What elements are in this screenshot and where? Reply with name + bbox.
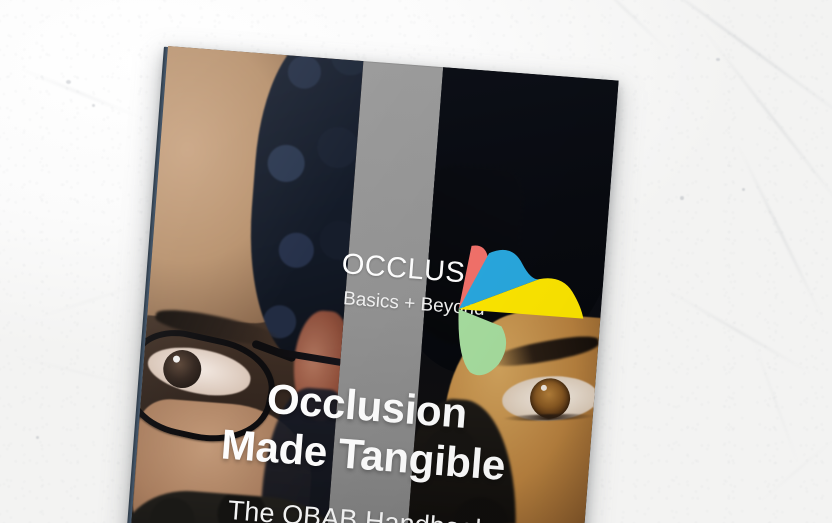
book-cover-mockup-scene: OCCLUSION Basics + Beyond Occlusion Made… xyxy=(0,0,832,523)
marble-speck xyxy=(716,58,720,61)
marble-speck xyxy=(66,80,71,84)
marble-speck xyxy=(680,196,684,200)
pinwheel-petals-icon xyxy=(435,224,607,396)
book-front-cover[interactable]: OCCLUSION Basics + Beyond Occlusion Made… xyxy=(122,46,619,523)
cover-subtitle: The OBAB Handbook xyxy=(132,488,585,523)
marble-speck xyxy=(36,436,39,439)
marble-speck xyxy=(92,104,95,107)
book-mockup[interactable]: OCCLUSION Basics + Beyond Occlusion Made… xyxy=(122,46,619,523)
marble-speck xyxy=(742,188,745,191)
petal-green-icon xyxy=(454,309,509,377)
